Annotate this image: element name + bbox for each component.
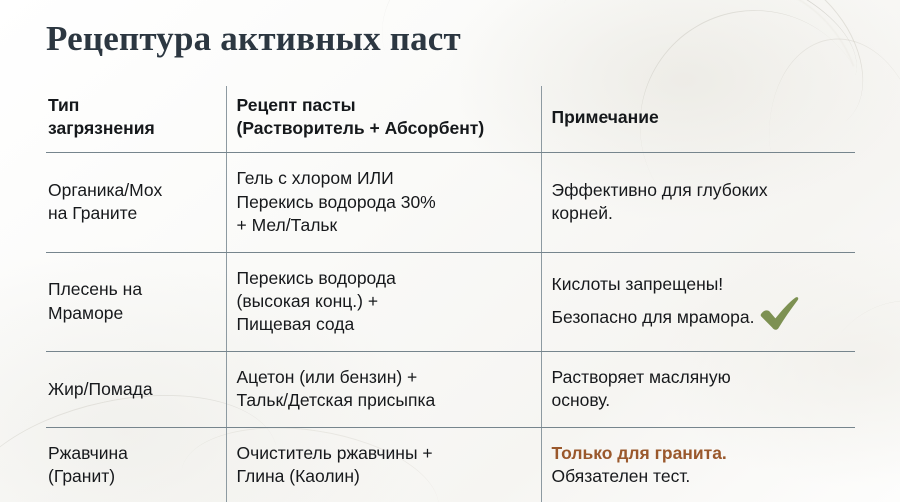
cell-line1: Ацетон (или бензин) + [237, 367, 418, 387]
table-header: Тип загрязнения Рецепт пасты (Растворите… [46, 86, 855, 153]
note-line2: основу. [552, 389, 842, 412]
cell-contamination-type: Ржавчина (Гранит) [46, 427, 226, 502]
cell-line3: Пищевая сода [237, 314, 355, 334]
cell-line2: (Гранит) [48, 466, 115, 486]
table-header-row: Тип загрязнения Рецепт пасты (Растворите… [46, 86, 855, 153]
cell-line1: Гель с хлором ИЛИ [237, 168, 394, 188]
cell-line2: Перекись водорода 30% [237, 192, 436, 212]
cell-line2: Глина (Каолин) [237, 466, 360, 486]
table-row: Жир/Помада Ацетон (или бензин) + Тальк/Д… [46, 351, 855, 427]
cell-line1: Перекись водорода [237, 268, 396, 288]
column-header-line1: Рецепт пасты [237, 95, 356, 115]
cell-line3: + Мел/Тальк [237, 215, 338, 235]
note-line2: Безопасно для мрамора. [552, 307, 755, 327]
column-header-line1: Тип [48, 95, 79, 115]
column-header-note: Примечание [541, 86, 855, 153]
column-header-contamination-type: Тип загрязнения [46, 86, 226, 153]
cell-line1: Жир/Помада [48, 379, 153, 399]
cell-contamination-type: Органика/Мох на Граните [46, 153, 226, 252]
table-row: Органика/Мох на Граните Гель с хлором ИЛ… [46, 153, 855, 252]
cell-line1: Ржавчина [48, 443, 128, 463]
cell-paste-recipe: Ацетон (или бензин) + Тальк/Детская прис… [226, 351, 541, 427]
cell-line2: на Граните [48, 203, 137, 223]
column-header-line2: загрязнения [48, 118, 155, 138]
cell-note: Кислоты запрещены! Безопасно для мрамора… [541, 252, 855, 351]
cell-paste-recipe: Очиститель ржавчины + Глина (Каолин) [226, 427, 541, 502]
note-line2: корней. [552, 202, 842, 225]
cell-paste-recipe: Гель с хлором ИЛИ Перекись водорода 30% … [226, 153, 541, 252]
note-emphasis: Только для гранита. [552, 442, 842, 465]
cell-line2: (высокая конц.) + [237, 291, 379, 311]
cell-note: Эффективно для глубоких корней. [541, 153, 855, 252]
cell-note: Растворяет масляную основу. [541, 351, 855, 427]
active-paste-recipe-table: Тип загрязнения Рецепт пасты (Растворите… [46, 86, 855, 502]
cell-line1: Плесень на [48, 279, 142, 299]
column-header-line1: Примечание [552, 107, 659, 127]
slide-canvas: Рецептура активных паст Тип загрязнения … [0, 0, 900, 502]
note-line1: Эффективно для глубоких [552, 179, 842, 202]
cell-line1: Органика/Мох [48, 180, 162, 200]
cell-line1: Очиститель ржавчины + [237, 443, 433, 463]
note-line2: Обязателен тест. [552, 465, 842, 488]
table-body: Органика/Мох на Граните Гель с хлором ИЛ… [46, 153, 855, 502]
cell-contamination-type: Жир/Помада [46, 351, 226, 427]
page-title: Рецептура активных паст [46, 19, 461, 59]
note-line1: Кислоты запрещены! [552, 273, 842, 296]
table-row: Ржавчина (Гранит) Очиститель ржавчины + … [46, 427, 855, 502]
note-line1: Растворяет масляную [552, 366, 842, 389]
column-header-paste-recipe: Рецепт пасты (Растворитель + Абсорбент) [226, 86, 541, 153]
table-row: Плесень на Мраморе Перекись водорода (вы… [46, 252, 855, 351]
cell-line2: Мраморе [48, 303, 123, 323]
cell-note: Только для гранита. Обязателен тест. [541, 427, 855, 502]
cell-contamination-type: Плесень на Мраморе [46, 252, 226, 351]
check-mark-icon [758, 296, 800, 330]
cell-line2: Тальк/Детская присыпка [237, 390, 436, 410]
cell-paste-recipe: Перекись водорода (высокая конц.) + Пище… [226, 252, 541, 351]
column-header-line2: (Растворитель + Абсорбент) [237, 118, 485, 138]
